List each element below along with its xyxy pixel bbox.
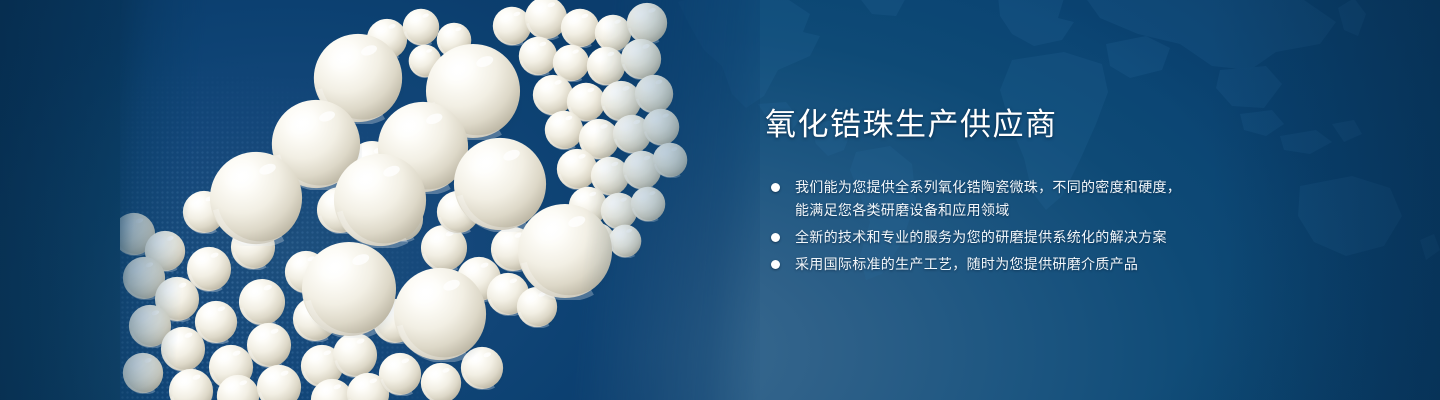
bullet-line: 能满足您各类研磨设备和应用领域: [795, 202, 1010, 218]
bullet-line: 全新的技术和专业的服务为您的研磨提供系统化的解决方案: [795, 229, 1167, 245]
dot-bullet-icon: [771, 183, 780, 192]
hero-banner: 氧化锆珠生产供应商 我们能为您提供全系列氧化锆陶瓷微珠，不同的密度和硬度， 能满…: [0, 0, 1440, 400]
dot-bullet-icon: [771, 260, 780, 269]
page-title: 氧化锆珠生产供应商: [765, 108, 1285, 142]
list-item: 采用国际标准的生产工艺，随时为您提供研磨介质产品: [769, 253, 1285, 276]
list-item: 我们能为您提供全系列氧化锆陶瓷微珠，不同的密度和硬度， 能满足您各类研磨设备和应…: [769, 176, 1285, 222]
zirconia-beads-photo: [120, 0, 760, 400]
feature-list: 我们能为您提供全系列氧化锆陶瓷微珠，不同的密度和硬度， 能满足您各类研磨设备和应…: [769, 176, 1285, 276]
hero-copy: 氧化锆珠生产供应商 我们能为您提供全系列氧化锆陶瓷微珠，不同的密度和硬度， 能满…: [765, 108, 1285, 280]
list-item: 全新的技术和专业的服务为您的研磨提供系统化的解决方案: [769, 226, 1285, 249]
bullet-line: 采用国际标准的生产工艺，随时为您提供研磨介质产品: [795, 256, 1138, 272]
dot-bullet-icon: [771, 233, 780, 242]
bullet-line: 我们能为您提供全系列氧化锆陶瓷微珠，不同的密度和硬度，: [795, 179, 1181, 195]
